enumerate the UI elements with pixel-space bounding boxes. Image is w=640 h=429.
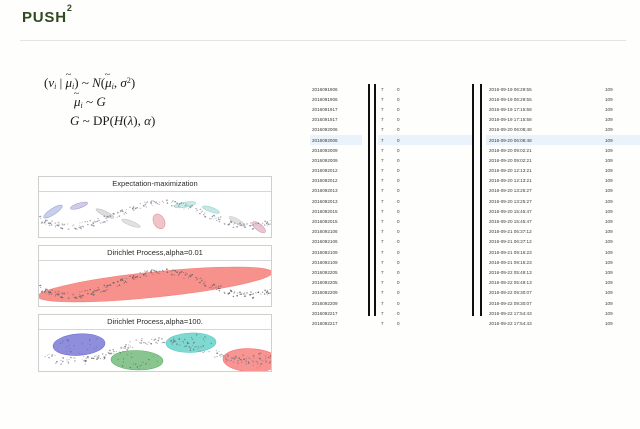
data-point xyxy=(146,271,147,272)
data-point xyxy=(139,342,140,343)
table-row[interactable]: 2016092217 xyxy=(310,318,362,328)
table-row[interactable]: 2016092209 xyxy=(310,298,362,308)
data-point xyxy=(246,223,247,224)
data-point xyxy=(270,292,271,293)
cell-record-id: 2016092217 xyxy=(310,321,362,326)
table-row[interactable]: 2016092106 xyxy=(310,227,362,237)
data-point xyxy=(132,208,134,210)
table-row[interactable]: 70 xyxy=(378,145,474,155)
cell-value-b: 0 xyxy=(397,280,473,285)
data-point xyxy=(189,346,190,347)
data-point xyxy=(147,201,148,202)
data-point xyxy=(120,210,122,212)
table-row[interactable]: 2016092013 xyxy=(310,196,362,206)
table-row[interactable]: 2016-09-19 17:15:58109 xyxy=(486,115,640,125)
table-row[interactable]: 2016092015 xyxy=(310,206,362,216)
data-point xyxy=(61,228,62,229)
data-point xyxy=(221,356,222,357)
table-left-ids[interactable]: 2016091906201609190620160919172016091917… xyxy=(310,84,362,329)
data-point xyxy=(70,351,72,353)
data-point xyxy=(254,358,255,359)
data-point xyxy=(251,225,252,226)
data-point xyxy=(40,287,41,288)
data-point xyxy=(82,343,83,344)
data-point xyxy=(253,356,254,357)
cell-value-a: 7 xyxy=(378,311,397,316)
data-point xyxy=(231,357,233,359)
data-point xyxy=(79,353,80,354)
cell-value-b: 0 xyxy=(397,87,473,92)
data-point xyxy=(266,361,267,362)
data-point xyxy=(116,351,117,352)
data-point xyxy=(94,348,95,349)
data-point xyxy=(123,362,124,363)
table-row[interactable]: 2016-09-20 09:02:21109 xyxy=(486,145,640,155)
data-point xyxy=(218,351,219,352)
cell-metric-value: 109 xyxy=(605,97,639,102)
table-row[interactable]: 2016-09-22 05:49:13109 xyxy=(486,267,640,277)
cell-value-b: 0 xyxy=(397,239,473,244)
data-point xyxy=(94,290,95,291)
data-point xyxy=(164,342,165,343)
data-point xyxy=(213,219,214,220)
data-point xyxy=(117,217,118,218)
data-point xyxy=(70,357,72,358)
header-divider xyxy=(20,40,626,41)
data-point xyxy=(46,289,48,291)
data-point xyxy=(39,216,40,217)
data-point xyxy=(237,293,238,294)
table-row[interactable]: 2016092012 xyxy=(310,166,362,176)
data-point xyxy=(244,292,245,293)
table-row[interactable]: 70 xyxy=(378,186,474,196)
data-point xyxy=(184,346,185,347)
table-row[interactable]: 70 xyxy=(378,125,474,135)
table-row[interactable]: 2016092006 xyxy=(310,125,362,135)
data-point xyxy=(172,343,173,344)
data-point xyxy=(181,202,182,203)
data-point xyxy=(49,354,50,355)
data-point xyxy=(83,295,84,296)
data-point xyxy=(270,223,271,224)
table-row[interactable]: 70 xyxy=(378,298,474,308)
table-row[interactable]: 2016091906 xyxy=(310,94,362,104)
table-row[interactable]: 2016-09-21 06:37:12109 xyxy=(486,237,640,247)
table-row[interactable]: 2016-09-22 17:54:43109 xyxy=(486,318,640,328)
table-row[interactable]: 2016-09-20 15:45:47109 xyxy=(486,216,640,226)
data-point xyxy=(174,341,176,343)
data-point xyxy=(124,213,126,215)
data-point xyxy=(172,342,173,343)
data-point xyxy=(157,343,158,344)
data-point xyxy=(61,360,62,361)
table-row[interactable]: 70 xyxy=(378,84,474,94)
chart-panel-dirichlet-alpha-high: Dirichlet Process,alpha=100. xyxy=(38,314,272,372)
table-row[interactable]: 70 xyxy=(378,308,474,318)
cell-value-b: 0 xyxy=(397,188,473,193)
data-point xyxy=(98,289,99,290)
data-point xyxy=(104,358,105,359)
table-row[interactable]: 2016-09-20 06:08:48109 xyxy=(486,125,640,135)
normal-paren-close: ) xyxy=(131,75,135,90)
data-point xyxy=(44,222,45,223)
data-point xyxy=(260,225,261,226)
table-row[interactable]: 2016091917 xyxy=(310,104,362,114)
table-row[interactable]: 2016092009 xyxy=(310,145,362,155)
cell-value-a: 7 xyxy=(378,250,397,255)
cell-record-id: 2016092006 xyxy=(310,138,362,143)
data-point xyxy=(166,199,168,201)
data-point xyxy=(225,357,226,358)
table-right-timestamps[interactable]: 2016-09-19 06:29:551092016-09-19 06:29:5… xyxy=(486,84,640,329)
cell-value-b: 0 xyxy=(397,209,473,214)
data-point xyxy=(133,275,134,276)
data-point xyxy=(135,208,137,210)
data-point xyxy=(62,293,63,294)
data-point xyxy=(220,285,222,287)
table-row[interactable]: 2016-09-20 12:13:21109 xyxy=(486,176,640,186)
data-point xyxy=(93,295,94,296)
data-point xyxy=(90,344,91,345)
table-row[interactable]: 2016-09-20 15:45:47109 xyxy=(486,206,640,216)
data-point xyxy=(196,279,198,280)
table-row[interactable]: 2016-09-22 17:54:43109 xyxy=(486,308,640,318)
cell-record-id: 2016092006 xyxy=(310,127,362,132)
data-point xyxy=(265,360,267,362)
data-point xyxy=(178,205,180,207)
data-point xyxy=(75,296,76,297)
data-point xyxy=(146,206,147,207)
data-point xyxy=(60,363,62,365)
data-point xyxy=(263,361,264,362)
cell-record-id: 2016092205 xyxy=(310,270,362,275)
table-row[interactable]: 2016-09-20 13:25:27109 xyxy=(486,196,640,206)
cell-metric-value: 109 xyxy=(605,168,639,173)
data-point xyxy=(132,277,134,279)
data-point xyxy=(87,290,88,291)
table-row[interactable]: 2016092006 xyxy=(310,135,362,145)
data-point xyxy=(84,221,86,223)
data-point xyxy=(87,349,88,350)
data-point xyxy=(55,222,57,224)
data-point xyxy=(141,364,142,365)
table-row[interactable]: 70 xyxy=(378,288,474,298)
data-point xyxy=(48,291,49,292)
data-point xyxy=(155,201,157,203)
data-point xyxy=(200,213,201,214)
table-row[interactable]: 2016-09-20 09:02:21109 xyxy=(486,155,640,165)
distributed-as-2: ~ xyxy=(83,94,97,109)
table-row[interactable]: 2016092109 xyxy=(310,247,362,257)
data-point xyxy=(248,362,249,363)
cell-timestamp: 2016-09-22 05:49:13 xyxy=(486,270,605,275)
data-point xyxy=(126,209,127,210)
data-point xyxy=(111,353,113,355)
data-point xyxy=(58,291,60,292)
cell-value-a: 7 xyxy=(378,239,397,244)
table-row[interactable]: 2016-09-21 09:16:23109 xyxy=(486,247,640,257)
data-point xyxy=(171,274,173,276)
data-point xyxy=(155,270,157,272)
table-row[interactable]: 2016092012 xyxy=(310,176,362,186)
table-row[interactable]: 70 xyxy=(378,237,474,247)
table-row[interactable]: 70 xyxy=(378,278,474,288)
data-point xyxy=(246,363,247,364)
data-point xyxy=(123,358,124,359)
data-point xyxy=(107,289,108,290)
data-point xyxy=(56,361,58,363)
data-point xyxy=(109,284,111,286)
data-point xyxy=(130,341,131,342)
table-row[interactable]: 2016-09-21 09:16:23109 xyxy=(486,257,640,267)
table-row[interactable]: 70 xyxy=(378,196,474,206)
data-point xyxy=(218,219,219,220)
table-row[interactable]: 70 xyxy=(378,94,474,104)
table-row[interactable]: 2016092209 xyxy=(310,288,362,298)
data-point xyxy=(244,223,245,224)
cell-metric-value: 109 xyxy=(605,229,639,234)
data-point xyxy=(200,350,202,351)
data-point xyxy=(98,355,100,357)
data-point xyxy=(258,223,260,225)
data-point xyxy=(229,293,230,294)
data-point xyxy=(179,341,180,342)
data-point xyxy=(215,287,216,288)
data-point xyxy=(171,271,172,272)
chart-plot-dp-low xyxy=(39,261,271,306)
data-point xyxy=(231,291,232,292)
data-point xyxy=(149,364,150,365)
table-row[interactable]: 70 xyxy=(378,318,474,328)
data-point xyxy=(234,291,235,292)
data-point xyxy=(40,218,41,219)
cell-timestamp: 2016-09-20 12:13:21 xyxy=(486,168,605,173)
data-point xyxy=(49,291,51,293)
data-point xyxy=(174,270,176,272)
data-point xyxy=(85,363,86,364)
data-point xyxy=(119,215,121,217)
data-point xyxy=(205,285,207,287)
cell-metric-value: 109 xyxy=(605,87,639,92)
data-point xyxy=(203,214,204,215)
table-row[interactable]: 70 xyxy=(378,206,474,216)
data-point xyxy=(185,203,186,204)
table-row[interactable]: 2016-09-19 06:29:55109 xyxy=(486,94,640,104)
table-row[interactable]: 2016092013 xyxy=(310,186,362,196)
data-point xyxy=(147,344,148,345)
data-point xyxy=(250,359,251,360)
data-point xyxy=(74,225,75,226)
data-point xyxy=(120,352,121,353)
data-point xyxy=(241,293,242,294)
data-point xyxy=(234,222,235,223)
data-point xyxy=(203,345,204,346)
table-row[interactable]: 2016-09-20 12:13:21109 xyxy=(486,166,640,176)
table-row[interactable]: 2016-09-21 06:37:12109 xyxy=(486,227,640,237)
data-point xyxy=(216,220,217,221)
data-point xyxy=(249,358,250,359)
data-point xyxy=(212,285,213,286)
data-point xyxy=(155,339,156,340)
table-row[interactable]: 70 xyxy=(378,257,474,267)
data-point xyxy=(243,293,244,294)
table-row[interactable]: 2016-09-20 13:25:27109 xyxy=(486,186,640,196)
data-point xyxy=(73,357,75,358)
prior-mu: μ xyxy=(74,93,81,112)
table-row[interactable]: 2016092009 xyxy=(310,155,362,165)
data-point xyxy=(120,279,122,281)
data-point xyxy=(73,293,74,294)
table-row[interactable]: 2016092205 xyxy=(310,278,362,288)
data-point xyxy=(151,200,152,201)
data-point xyxy=(223,355,224,356)
data-point xyxy=(236,226,238,228)
cell-metric-value: 109 xyxy=(605,178,639,183)
table-middle-values[interactable]: 7070707070707070707070707070707070707070… xyxy=(378,84,474,329)
table-row[interactable]: 2016092015 xyxy=(310,216,362,226)
data-point xyxy=(60,343,61,344)
table-row[interactable]: 2016-09-22 09:30:07109 xyxy=(486,288,640,298)
data-point xyxy=(62,223,63,224)
table-row[interactable]: 2016-09-19 17:15:58109 xyxy=(486,104,640,114)
data-point xyxy=(105,354,106,355)
data-point xyxy=(245,294,246,295)
data-point xyxy=(200,282,201,283)
data-point xyxy=(44,291,45,292)
data-point xyxy=(197,349,198,350)
cell-value-a: 7 xyxy=(378,209,397,214)
data-point xyxy=(200,346,202,348)
table-row[interactable]: 70 xyxy=(378,247,474,257)
cell-timestamp: 2016-09-21 06:37:12 xyxy=(486,239,605,244)
data-point xyxy=(83,360,84,361)
table-row[interactable]: 70 xyxy=(378,166,474,176)
distributed-as-3: ~ xyxy=(79,113,93,128)
table-row[interactable]: 70 xyxy=(378,155,474,165)
data-point xyxy=(201,281,202,282)
data-point xyxy=(72,294,73,295)
table-row[interactable]: 2016-09-19 06:29:55109 xyxy=(486,84,640,94)
data-point xyxy=(62,292,63,293)
table-row[interactable]: 2016091906 xyxy=(310,84,362,94)
table-row[interactable]: 2016092109 xyxy=(310,257,362,267)
table-row[interactable]: 2016091917 xyxy=(310,115,362,125)
data-point xyxy=(82,359,83,360)
data-point xyxy=(176,344,178,346)
cell-value-b: 0 xyxy=(397,158,473,163)
cell-value-b: 0 xyxy=(397,301,473,306)
data-point xyxy=(144,273,145,274)
data-point xyxy=(239,292,240,293)
data-point xyxy=(198,351,199,352)
cell-value-a: 7 xyxy=(378,127,397,132)
data-point xyxy=(104,285,106,287)
cell-metric-value: 109 xyxy=(605,239,639,244)
data-point xyxy=(107,285,108,286)
table-row[interactable]: 70 xyxy=(378,176,474,186)
cluster-ellipse xyxy=(121,217,141,229)
data-point xyxy=(80,222,81,223)
data-point xyxy=(133,209,135,211)
table-row[interactable]: 2016-09-22 09:30:07109 xyxy=(486,298,640,308)
data-point xyxy=(51,354,53,356)
data-point xyxy=(236,295,238,297)
table-row[interactable]: 70 xyxy=(378,115,474,125)
data-point xyxy=(183,278,184,279)
data-point xyxy=(122,351,123,352)
data-point xyxy=(195,211,196,212)
data-point xyxy=(158,340,159,341)
data-point xyxy=(79,296,80,297)
data-point xyxy=(113,351,115,352)
data-point xyxy=(133,278,135,280)
data-point xyxy=(141,342,142,343)
data-point xyxy=(176,202,178,204)
data-point xyxy=(139,368,140,369)
data-point xyxy=(129,207,130,208)
table-row[interactable]: 2016092217 xyxy=(310,308,362,318)
chart-panel-dirichlet-alpha-low: Dirichlet Process,alpha=0.01 xyxy=(38,245,272,307)
cell-timestamp: 2016-09-22 17:54:43 xyxy=(486,311,605,316)
data-point xyxy=(252,360,253,361)
data-point xyxy=(162,270,163,271)
cell-value-b: 0 xyxy=(397,148,473,153)
table-row[interactable]: 70 xyxy=(378,135,474,145)
data-point xyxy=(204,336,205,337)
cell-metric-value: 109 xyxy=(605,107,639,112)
table-row[interactable]: 2016-09-20 06:08:48109 xyxy=(486,135,640,145)
table-row[interactable]: 70 xyxy=(378,216,474,226)
data-table-area[interactable]: 2016091906201609190620160919172016091917… xyxy=(310,84,640,316)
data-point xyxy=(49,222,51,224)
cell-value-a: 7 xyxy=(378,280,397,285)
data-point xyxy=(176,343,177,344)
data-point xyxy=(218,286,220,287)
data-point xyxy=(107,216,108,217)
table-row[interactable]: 2016092106 xyxy=(310,237,362,247)
table-row[interactable]: 2016-09-22 05:49:13109 xyxy=(486,278,640,288)
data-point xyxy=(45,293,46,294)
cell-value-a: 7 xyxy=(378,199,397,204)
data-point xyxy=(129,276,130,277)
cell-metric-value: 109 xyxy=(605,219,639,224)
cell-value-b: 0 xyxy=(397,199,473,204)
data-point xyxy=(80,291,81,292)
data-point xyxy=(92,223,94,225)
chart-title-dp-high: Dirichlet Process,alpha=100. xyxy=(39,315,271,330)
cell-value-a: 7 xyxy=(378,117,397,122)
data-point xyxy=(140,208,141,209)
table-row[interactable]: 70 xyxy=(378,267,474,277)
dp-paren-close: ) xyxy=(151,113,155,128)
table-row[interactable]: 70 xyxy=(378,104,474,114)
data-point xyxy=(195,277,196,278)
cell-timestamp: 2016-09-19 17:15:58 xyxy=(486,107,605,112)
data-point xyxy=(150,202,152,204)
data-point xyxy=(67,339,69,341)
cell-metric-value: 109 xyxy=(605,321,639,326)
data-point xyxy=(253,293,254,294)
table-row[interactable]: 70 xyxy=(378,227,474,237)
data-point xyxy=(136,276,138,278)
data-point xyxy=(225,358,227,360)
data-point xyxy=(130,345,131,346)
data-point xyxy=(193,342,194,343)
data-point xyxy=(109,353,110,354)
cell-value-a: 7 xyxy=(378,301,397,306)
table-row[interactable]: 2016092205 xyxy=(310,267,362,277)
data-point xyxy=(258,357,259,358)
